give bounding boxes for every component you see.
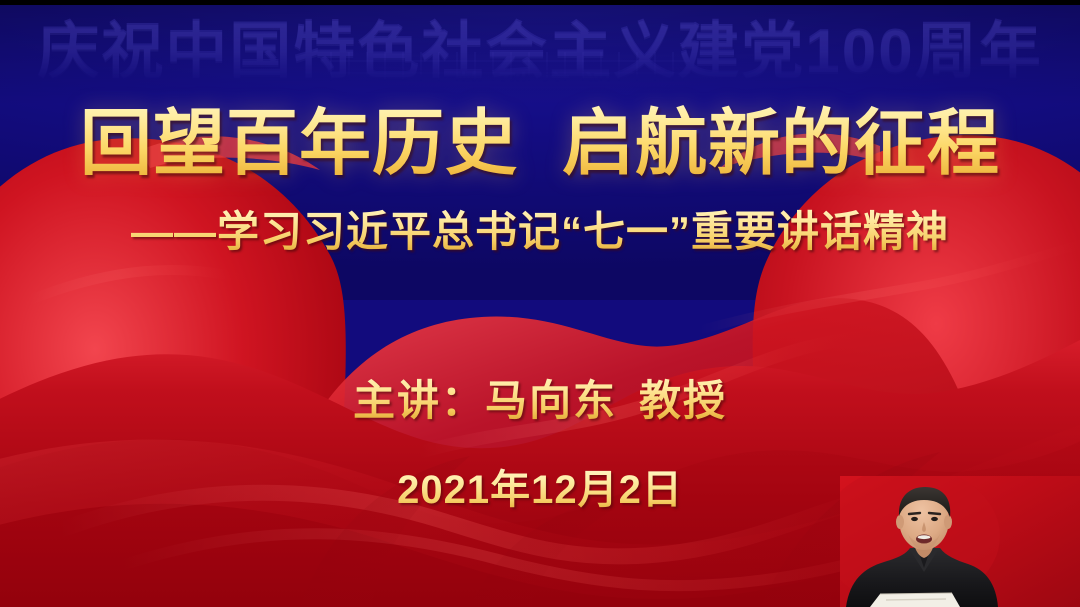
slide-title: 回望百年历史启航新的征程 bbox=[0, 84, 1080, 189]
speaker-video-overlay[interactable] bbox=[840, 476, 1080, 607]
speaker-line: 主讲：马向东教授 bbox=[0, 367, 1080, 428]
title-part-2: 启航新的征程 bbox=[562, 104, 1000, 184]
speaker-label: 主讲： bbox=[353, 377, 485, 424]
presentation-slide: 庆祝中国特色社会主义建党100周年 热烈庆祝 bbox=[0, 0, 1080, 607]
speaker-name: 马向东 bbox=[485, 377, 617, 424]
title-part-1: 回望百年历史 bbox=[80, 104, 518, 184]
speaker-role: 教授 bbox=[639, 377, 727, 424]
letterbox-top-bar bbox=[0, 0, 1080, 5]
slide-subtitle: ——学习习近平总书记“七一”重要讲话精神 bbox=[0, 198, 1080, 259]
